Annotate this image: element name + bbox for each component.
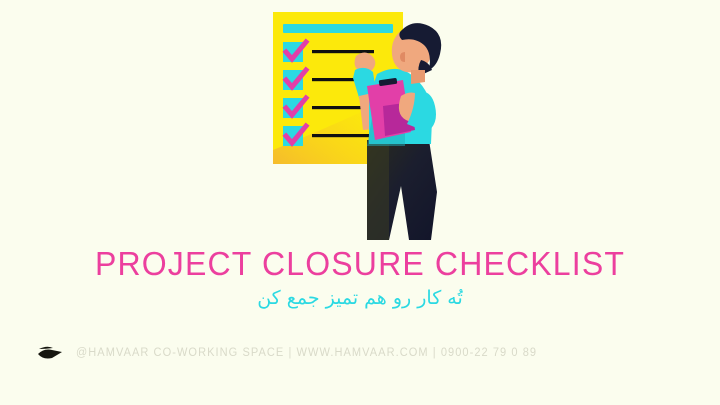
arrow-bird-logo-icon	[36, 342, 66, 364]
title-block: PROJECT CLOSURE CHECKLIST تُه کار رو هم …	[0, 246, 720, 310]
footer-contact-text: @HAMVAAR CO-WORKING SPACE | WWW.HAMVAAR.…	[76, 347, 537, 359]
footer: @HAMVAAR CO-WORKING SPACE | WWW.HAMVAAR.…	[36, 341, 684, 365]
page-subtitle: تُه کار رو هم تمیز جمع کن	[0, 286, 720, 310]
poster-canvas: PROJECT CLOSURE CHECKLIST تُه کار رو هم …	[0, 0, 720, 405]
page-title: PROJECT CLOSURE CHECKLIST	[11, 246, 709, 282]
checklist-board-with-person-illustration	[255, 0, 495, 240]
neck	[411, 70, 425, 84]
board-header-bar	[283, 24, 393, 33]
